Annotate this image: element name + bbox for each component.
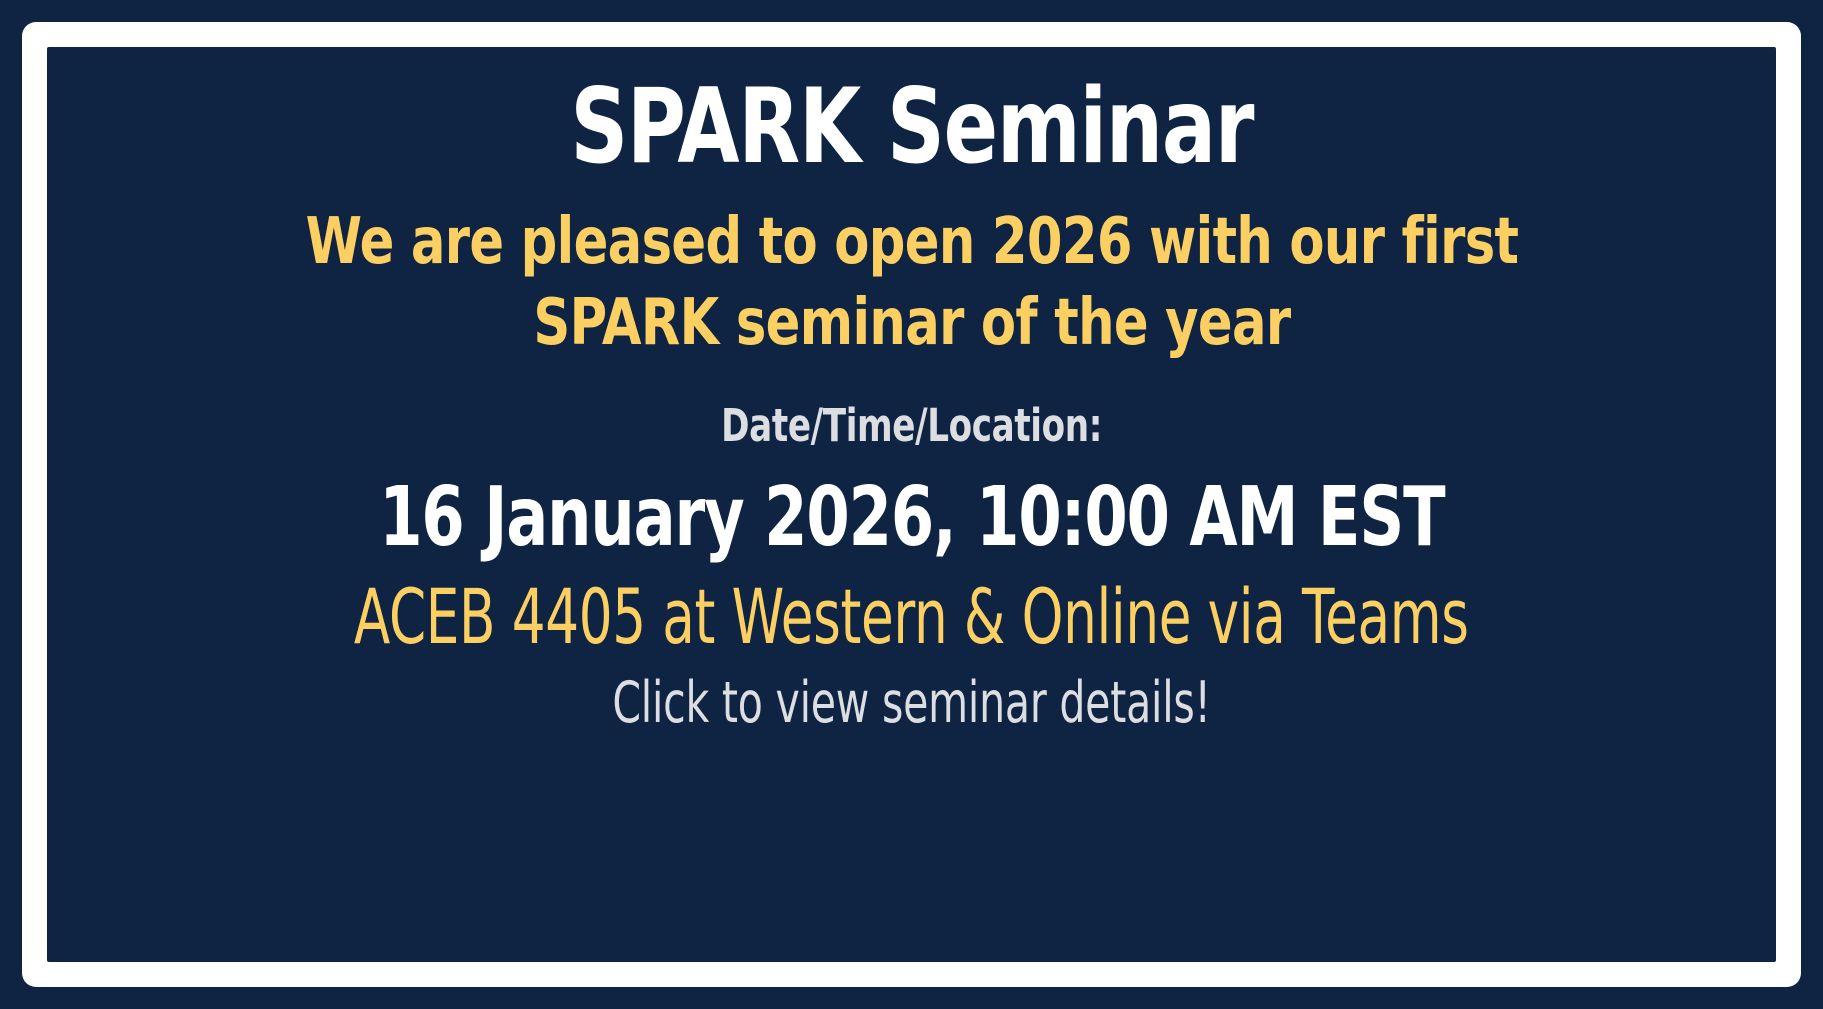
banner-white-frame: SPARK Seminar We are pleased to open 202… (22, 22, 1801, 987)
banner-subtitle-line-1: We are pleased to open 2026 with our fir… (305, 202, 1518, 283)
banner-subtitle-line-2: SPARK seminar of the year (305, 283, 1518, 364)
banner-inner-panel: SPARK Seminar We are pleased to open 202… (47, 47, 1776, 962)
banner-subtitle: We are pleased to open 2026 with our fir… (305, 202, 1518, 363)
date-time-location-label: Date/Time/Location: (721, 401, 1102, 451)
event-datetime: 16 January 2026, 10:00 AM EST (379, 475, 1444, 560)
view-seminar-details-link[interactable]: Click to view seminar details! (612, 672, 1210, 735)
spark-seminar-banner[interactable]: SPARK Seminar We are pleased to open 202… (0, 0, 1823, 1009)
event-location: ACEB 4405 at Western & Online via Teams (354, 576, 1469, 658)
banner-title: SPARK Seminar (570, 75, 1253, 180)
